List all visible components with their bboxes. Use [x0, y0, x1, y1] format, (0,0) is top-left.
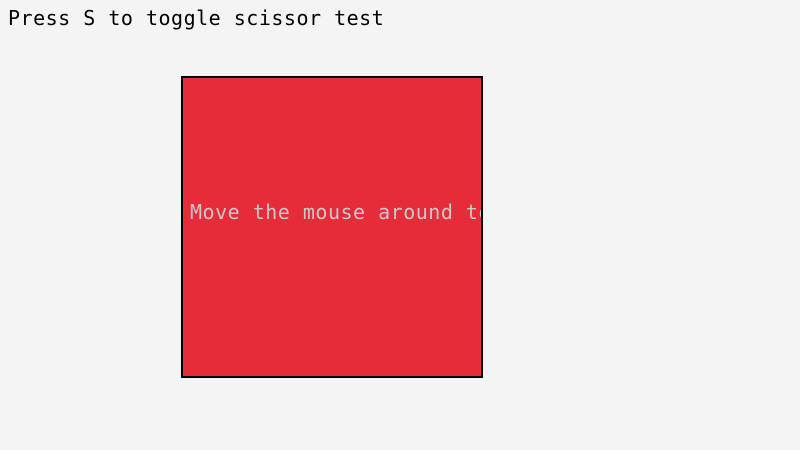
demo-canvas[interactable]: Press S to toggle scissor test Move the …	[0, 0, 800, 450]
instruction-text: Press S to toggle scissor test	[8, 6, 384, 30]
scissor-test-rectangle[interactable]: Move the mouse around to r	[181, 76, 483, 378]
scissor-clipped-text: Move the mouse around to r	[190, 200, 483, 224]
